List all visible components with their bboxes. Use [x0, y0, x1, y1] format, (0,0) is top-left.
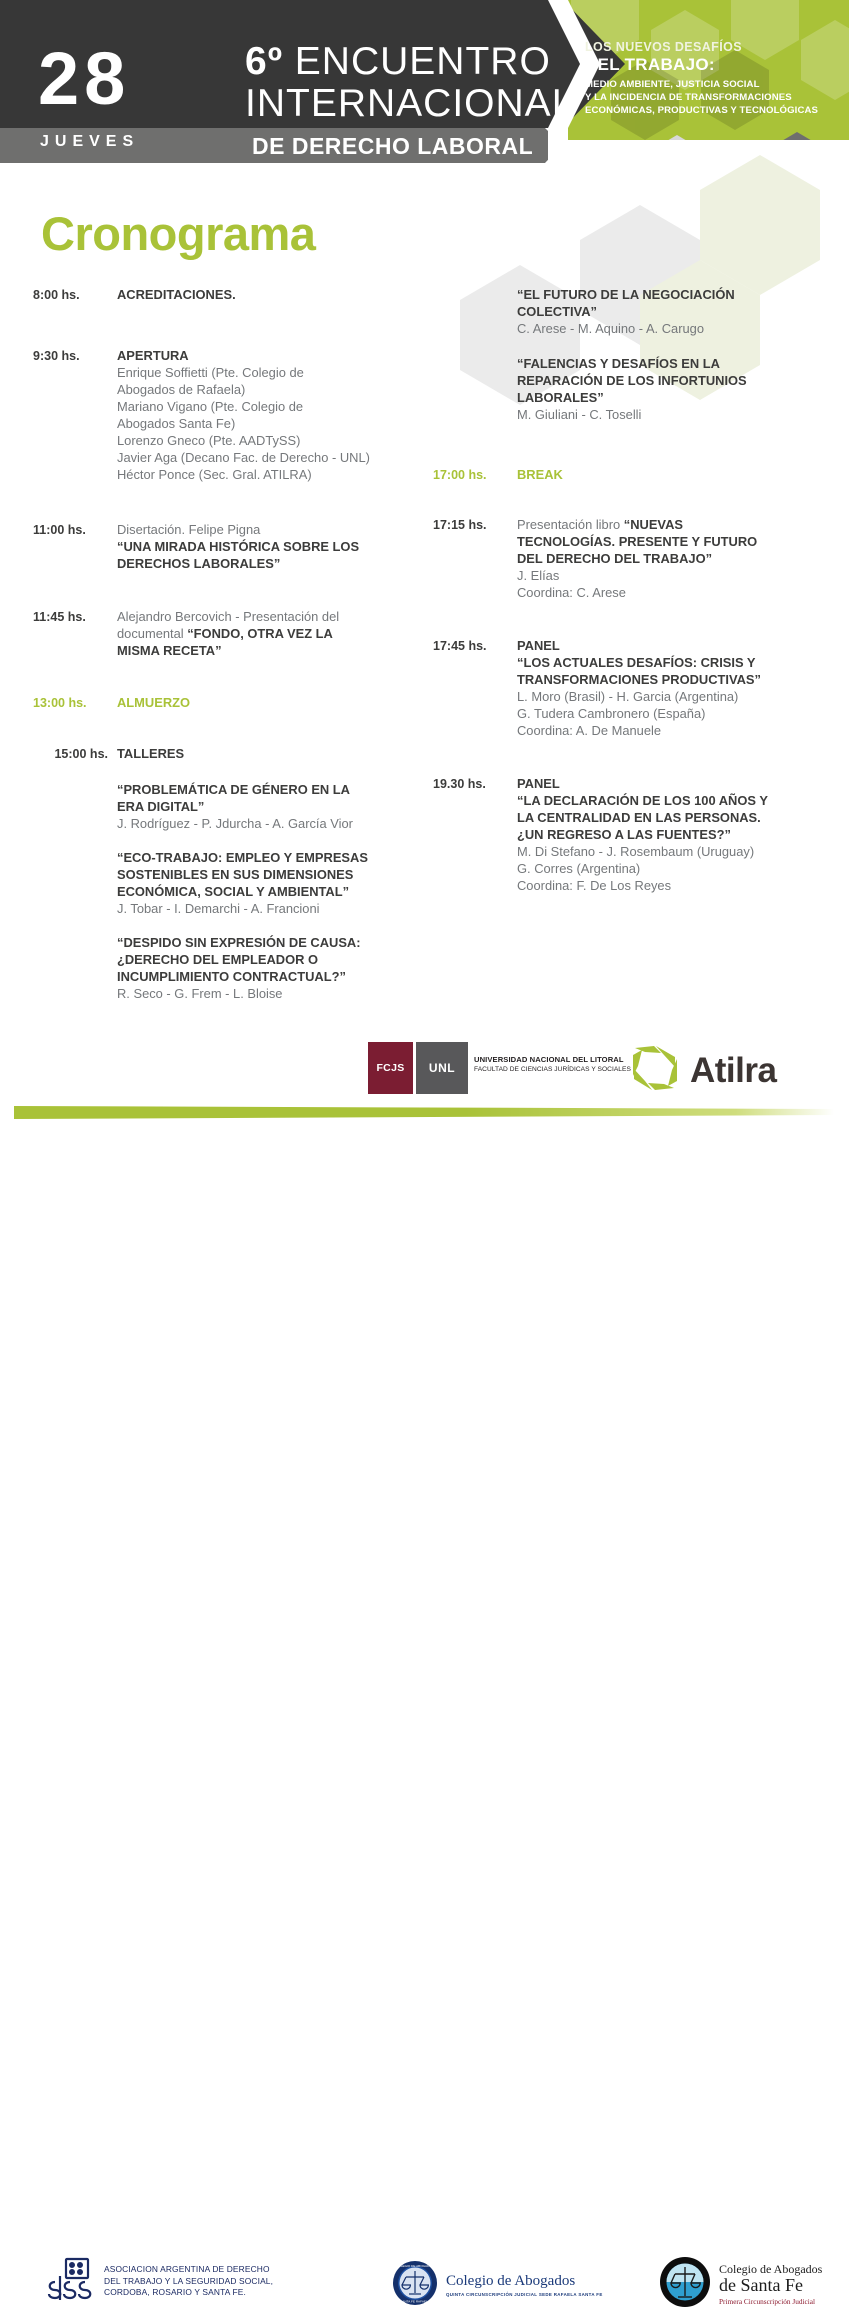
schedule-row: 11:45 hs. Alejandro Bercovich - Presenta… [33, 608, 433, 659]
schedule-content: Alejandro Bercovich - Presentación del d… [117, 608, 433, 659]
poster-header: 28 JUEVES 6º ENCUENTRO INTERNACIONAL DE … [0, 0, 849, 163]
unl-name-line: UNIVERSIDAD NACIONAL DEL LITORAL [474, 1055, 631, 1064]
atilra-logo: Atilra [631, 1043, 776, 1098]
panel-title-line: “EL FUTURO DE LA NEGOCIACIÓN [517, 286, 833, 303]
schedule-time: 17:00 hs. [433, 466, 517, 483]
event-day-name: JUEVES [40, 133, 139, 151]
page-title: Cronograma [41, 206, 315, 261]
workshop-speakers: R. Seco - G. Frem - L. Bloise [117, 985, 433, 1002]
panel-title-line: “FALENCIAS Y DESAFÍOS EN LA [517, 355, 833, 372]
event-day-number: 28 [38, 42, 130, 116]
colegio-santafe-text: Colegio de Abogados de Santa Fe Primera … [719, 2263, 822, 2306]
schedule-content: BREAK [517, 466, 833, 483]
schedule-content: ACREDITACIONES. [117, 286, 433, 303]
schedule-topic-line: TRANSFORMACIONES PRODUCTIVAS” [517, 671, 833, 688]
schedule-row: 8:00 hs. ACREDITACIONES. [33, 286, 433, 303]
schedule-time: 13:00 hs. [33, 694, 117, 711]
panel-title-line: COLECTIVA” [517, 303, 833, 320]
workshop-item: “ECO-TRABAJO: EMPLEO Y EMPRESAS SOSTENIB… [117, 849, 433, 917]
schedule-content: ALMUERZO [117, 694, 433, 711]
workshop-title-line: “DESPIDO SIN EXPRESIÓN DE CAUSA: [117, 934, 433, 951]
schedule-detail-line: Abogados Santa Fe) [117, 415, 433, 432]
schedule-content: PANEL “LA DECLARACIÓN DE LOS 100 AÑOS Y … [517, 775, 833, 894]
aadtyss-text: ASOCIACION ARGENTINA DE DERECHO DEL TRAB… [104, 2264, 273, 2300]
schedule-title: TALLERES [117, 746, 184, 761]
event-title-line2: INTERNACIONAL [245, 82, 574, 125]
colegio-rafaela-subtitle: QUINTA CIRCUNSCRIPCIÓN JUDICIAL SEDE RAF… [446, 2292, 603, 2297]
schedule-row: 15:00 hs. TALLERES [33, 745, 433, 762]
schedule-content: APERTURA Enrique Soffietti (Pte. Colegio… [117, 347, 433, 483]
workshop-title-line: ¿DERECHO DEL EMPLEADOR O [117, 951, 433, 968]
colegio-santafe-line-1: Colegio de Abogados [719, 2263, 822, 2276]
workshop-title-line: INCUMPLIMIENTO CONTRACTUAL?” [117, 968, 433, 985]
schedule-detail-line: Coordina: C. Arese [517, 584, 833, 601]
schedule-row: 19.30 hs. PANEL “LA DECLARACIÓN DE LOS 1… [433, 775, 833, 894]
colegio-abogados-rafaela-block: COLEGIO DE ABOGADOS SANTA FE RAFAELA Col… [392, 2260, 603, 2311]
colegio-rafaela-seal-icon: COLEGIO DE ABOGADOS SANTA FE RAFAELA [392, 2260, 438, 2311]
aadtyss-line-3: CORDOBA, ROSARIO Y SANTA FE. [104, 2287, 273, 2299]
event-title-line1: ENCUENTRO [295, 40, 551, 83]
schedule-time: 11:00 hs. [33, 521, 117, 572]
schedule-topic-line: DEL DERECHO DEL TRABAJO” [517, 550, 833, 567]
panel-speakers: M. Giuliani - C. Toselli [517, 406, 833, 423]
schedule-time: 11:45 hs. [33, 608, 117, 659]
schedule-row: 13:00 hs. ALMUERZO [33, 694, 433, 711]
schedule-title: PANEL [517, 775, 833, 792]
colegio-rafaela-text: Colegio de Abogados QUINTA CIRCUNSCRIPCI… [446, 2274, 603, 2297]
unl-faculty-line: FACULTAD DE CIENCIAS JURÍDICAS Y SOCIALE… [474, 1066, 631, 1073]
schedule-content: TALLERES [117, 745, 433, 762]
schedule-topic-line: “FONDO, OTRA VEZ LA [187, 626, 333, 641]
schedule-topic-line: “LOS ACTUALES DESAFÍOS: CRISIS Y [517, 654, 833, 671]
schedule-intro: Alejandro Bercovich - Presentación del [117, 608, 433, 625]
schedule-intro-prefix: Presentación libro [517, 517, 624, 532]
svg-text:SANTA FE RAFAELA: SANTA FE RAFAELA [400, 2300, 430, 2304]
workshop-title-line: ECONÓMICA, SOCIAL Y AMBIENTAL” [117, 883, 433, 900]
colegio-santafe-line-2: de Santa Fe [719, 2276, 822, 2295]
panel-title-line: LABORALES” [517, 389, 833, 406]
atilra-mark-icon [631, 1043, 681, 1098]
atilra-wordmark: Atilra [690, 1053, 776, 1088]
event-title-ordinal: 6º [245, 40, 283, 83]
schedule-time: 15:00 hs. [33, 745, 117, 762]
workshop-title-line: ERA DIGITAL” [117, 798, 433, 815]
unl-logo: UNL [416, 1042, 468, 1094]
aadtyss-logo-block: ASOCIACION ARGENTINA DE DERECHO DEL TRAB… [46, 2256, 273, 2307]
poster-footer: ASOCIACION ARGENTINA DE DERECHO DEL TRAB… [0, 1126, 849, 1200]
footer-divider [14, 1106, 834, 1119]
schedule-intro-2: Presentación libro “NUEVAS [517, 516, 833, 533]
schedule-detail-line: Mariano Vigano (Pte. Colegio de [117, 398, 433, 415]
aadtyss-line-1: ASOCIACION ARGENTINA DE DERECHO [104, 2264, 273, 2276]
aadtyss-line-2: DEL TRABAJO Y LA SEGURIDAD SOCIAL, [104, 2276, 273, 2288]
panel-item: “EL FUTURO DE LA NEGOCIACIÓN COLECTIVA” … [517, 286, 833, 337]
schedule-content: Disertación. Felipe Pigna “UNA MIRADA HI… [117, 521, 433, 572]
fcjs-logo: FCJS [368, 1042, 413, 1094]
workshop-item: “PROBLEMÁTICA DE GÉNERO EN LA ERA DIGITA… [117, 781, 433, 832]
schedule-detail-line: G. Corres (Argentina) [517, 860, 833, 877]
workshop-item: “DESPIDO SIN EXPRESIÓN DE CAUSA: ¿DERECH… [117, 934, 433, 1002]
theme-line-3b: Y LA INCIDENCIA DE TRANSFORMACIONES [585, 92, 845, 105]
schedule-row: 17:45 hs. PANEL “LOS ACTUALES DESAFÍOS: … [433, 637, 833, 739]
schedule-topic-line: ¿UN REGRESO A LAS FUENTES?” [517, 826, 833, 843]
workshop-speakers: J. Rodríguez - P. Jdurcha - A. García Vi… [117, 815, 433, 832]
unl-logo-text: UNIVERSIDAD NACIONAL DEL LITORAL FACULTA… [474, 1055, 631, 1073]
colegio-santafe-seal-icon [659, 2256, 711, 2313]
schedule-detail-line: J. Elías [517, 567, 833, 584]
theme-line-3a: MEDIO AMBIENTE, JUSTICIA SOCIAL [585, 79, 845, 92]
schedule-intro-2: documental “FONDO, OTRA VEZ LA [117, 625, 433, 642]
schedule-topic-line: TECNOLOGÍAS. PRESENTE Y FUTURO [517, 533, 833, 550]
schedule-title: BREAK [517, 467, 563, 482]
theme-line-2: DEL TRABAJO: [585, 55, 845, 75]
panel-item: “FALENCIAS Y DESAFÍOS EN LA REPARACIÓN D… [517, 355, 833, 423]
schedule-detail-line: Coordina: A. De Manuele [517, 722, 833, 739]
schedule-detail-line: L. Moro (Brasil) - H. Garcia (Argentina) [517, 688, 833, 705]
schedule-content: PANEL “LOS ACTUALES DESAFÍOS: CRISIS Y T… [517, 637, 833, 739]
theme-line-3c: ECONÓMICAS, PRODUCTIVAS Y TECNOLÓGICAS [585, 105, 845, 118]
panel-speakers: C. Arese - M. Aquino - A. Carugo [517, 320, 833, 337]
schedule-row: 17:00 hs. BREAK [433, 466, 833, 483]
schedule-title: ALMUERZO [117, 695, 190, 710]
schedule-intro-prefix: documental [117, 626, 187, 641]
schedule-title: ACREDITACIONES. [117, 287, 236, 302]
schedule-row: 17:15 hs. Presentación libro “NUEVAS TEC… [433, 516, 833, 601]
schedule-time: 17:15 hs. [433, 516, 517, 601]
schedule-detail-line: M. Di Stefano - J. Rosembaum (Uruguay) [517, 843, 833, 860]
schedule-row: 11:00 hs. Disertación. Felipe Pigna “UNA… [33, 521, 433, 572]
event-theme: LOS NUEVOS DESAFÍOS DEL TRABAJO: MEDIO A… [585, 40, 845, 117]
workshop-title-line: “ECO-TRABAJO: EMPLEO Y EMPRESAS [117, 849, 433, 866]
schedule-detail-line: Héctor Ponce (Sec. Gral. ATILRA) [117, 466, 433, 483]
schedule-time: 17:45 hs. [433, 637, 517, 739]
schedule-detail-line: Coordina: F. De Los Reyes [517, 877, 833, 894]
panel-title-line: REPARACIÓN DE LOS INFORTUNIOS [517, 372, 833, 389]
workshop-title-line: “PROBLEMÁTICA DE GÉNERO EN LA [117, 781, 433, 798]
workshop-title-line: SOSTENIBLES EN SUS DIMENSIONES [117, 866, 433, 883]
schedule-detail-line: G. Tudera Cambronero (España) [517, 705, 833, 722]
event-title: 6º ENCUENTRO INTERNACIONAL [245, 41, 574, 124]
workshop-speakers: J. Tobar - I. Demarchi - A. Francioni [117, 900, 433, 917]
schedule-topic-line: “UNA MIRADA HISTÓRICA SOBRE LOS [117, 538, 433, 555]
colegio-santafe-line-3: Primera Circunscripción Judicial [719, 2297, 822, 2306]
schedule-time: 8:00 hs. [33, 286, 117, 303]
schedule-detail-line: Abogados de Rafaela) [117, 381, 433, 398]
schedule-title: APERTURA [117, 347, 433, 364]
theme-line-3: MEDIO AMBIENTE, JUSTICIA SOCIAL Y LA INC… [585, 79, 845, 117]
schedule-intro: Disertación. Felipe Pigna [117, 521, 433, 538]
schedule-time: 9:30 hs. [33, 347, 117, 483]
schedule-topic-line: DERECHOS LABORALES” [117, 555, 433, 572]
schedule-title: PANEL [517, 637, 833, 654]
schedule-detail-line: Javier Aga (Decano Fac. de Derecho - UNL… [117, 449, 433, 466]
svg-text:COLEGIO DE ABOGADOS: COLEGIO DE ABOGADOS [396, 2264, 434, 2268]
schedule-time: 19.30 hs. [433, 775, 517, 894]
schedule-content: Presentación libro “NUEVAS TECNOLOGÍAS. … [517, 516, 833, 601]
schedule-topic-line: “NUEVAS [624, 517, 683, 532]
colegio-rafaela-title: Colegio de Abogados [446, 2274, 603, 2289]
aadtyss-monogram-icon [46, 2256, 96, 2307]
theme-line-1: LOS NUEVOS DESAFÍOS [585, 40, 845, 54]
schedule-detail-line: Enrique Soffietti (Pte. Colegio de [117, 364, 433, 381]
schedule-row: 9:30 hs. APERTURA Enrique Soffietti (Pte… [33, 347, 433, 483]
schedule-topic-line: LA CENTRALIDAD EN LAS PERSONAS. [517, 809, 833, 826]
colegio-abogados-santafe-block: Colegio de Abogados de Santa Fe Primera … [659, 2256, 822, 2313]
schedule-detail-line: Lorenzo Gneco (Pte. AADTySS) [117, 432, 433, 449]
schedule-topic-line: “LA DECLARACIÓN DE LOS 100 AÑOS Y [517, 792, 833, 809]
schedule-topic-line: MISMA RECETA” [117, 642, 433, 659]
